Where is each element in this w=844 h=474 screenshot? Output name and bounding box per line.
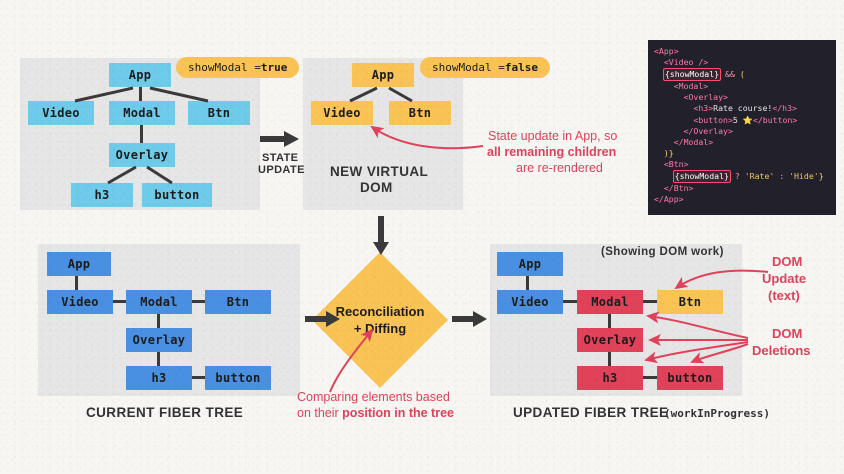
vdom-before-edge-modal-overlay [140,125,143,143]
current-fiber-tree-caption: CURRENT FIBER TREE [86,405,243,420]
dom-update-label-line2: Update [762,271,806,286]
state-update-label-line2: UPDATE [258,164,305,176]
new-virtual-dom-label-line2: DOM [360,180,393,195]
vdom-to-reconciliation-arrow-icon [372,216,390,261]
current-fiber-edge-modal-overlay [157,314,160,328]
state-update-label-line1: STATE [262,152,298,164]
current-to-reconciliation-arrow-icon [305,310,341,333]
state-update-note-line3: are re-rendered [516,161,603,176]
vdom-after-node-btn: Btn [389,101,451,125]
showmodal-false-badge: showModal = false [420,57,550,78]
updated-fiber-node-btn: Btn [657,290,723,314]
vdom-before-node-video: Video [28,101,94,125]
dom-update-label-line3: (text) [768,288,800,303]
updated-fiber-tree-caption-mono: (workInProgress) [664,407,770,420]
badge-value: true [261,61,288,74]
current-fiber-edge-video-modal [113,300,126,303]
current-fiber-node-app: App [47,252,111,276]
code-highlight-showmodal-2: {showModal} [673,170,731,183]
current-fiber-node-btn: Btn [205,290,271,314]
current-fiber-node-button: button [205,366,271,390]
vdom-before-node-app: App [109,63,171,87]
dom-deletions-label-line1: DOM [772,326,802,341]
state-update-arrow-icon [260,130,300,153]
current-fiber-edge-app-video [75,276,78,290]
reconciliation-note-line2-bold: position in the tree [342,406,454,420]
badge-value: false [505,61,538,74]
state-update-note-line2: all remaining children [487,145,616,160]
current-fiber-edge-modal-btn [192,300,205,303]
current-fiber-node-h3: h3 [126,366,192,390]
updated-fiber-node-app: App [497,252,563,276]
current-fiber-edge-overlay-h3 [157,352,160,366]
vdom-after-node-app: App [352,63,414,87]
updated-fiber-edge-h3-button [643,376,657,379]
current-fiber-node-modal: Modal [126,290,192,314]
updated-fiber-node-h3: h3 [577,366,643,390]
vdom-before-node-h3: h3 [71,183,133,207]
updated-fiber-edge-modal-btn [643,300,657,303]
updated-fiber-inset-label: (Showing DOM work) [601,246,724,258]
reconciliation-note-line2: on their position in the tree [297,406,454,421]
reconciliation-note-line2-plain: on their [297,406,342,420]
badge-prefix: showModal = [432,61,505,74]
showmodal-true-badge: showModal = true [176,57,299,78]
vdom-before-node-btn: Btn [188,101,250,125]
current-fiber-edge-h3-button [192,376,205,379]
updated-fiber-node-video: Video [497,290,563,314]
vdom-after-node-video: Video [311,101,373,125]
new-virtual-dom-label-line1: NEW VIRTUAL [330,164,428,179]
vdom-before-node-modal: Modal [109,101,175,125]
vdom-before-node-overlay: Overlay [109,143,175,167]
state-update-note-line1: State update in App, so [488,129,617,144]
current-fiber-node-overlay: Overlay [126,328,192,352]
updated-fiber-edge-app-video [526,276,529,290]
vdom-before-edge-app-modal [139,87,142,101]
code-snippet-block: <App> <Video /> {showModal} && ( <Modal>… [648,40,836,215]
vdom-before-node-button: button [142,183,212,207]
updated-fiber-node-button: button [657,366,723,390]
updated-fiber-edge-overlay-h3 [608,352,611,366]
reconciliation-to-updated-arrow-icon [452,310,488,333]
code-highlight-showmodal-1: {showModal} [663,68,721,81]
updated-fiber-edge-video-modal [563,300,577,303]
updated-fiber-node-modal: Modal [577,290,643,314]
updated-fiber-edge-modal-overlay [608,314,611,328]
dom-deletions-label-line2: Deletions [752,343,811,358]
current-fiber-node-video: Video [47,290,113,314]
reconciliation-note-line1: Comparing elements based [297,390,450,405]
updated-fiber-node-overlay: Overlay [577,328,643,352]
dom-update-label-line1: DOM [772,254,802,269]
updated-fiber-tree-caption: UPDATED FIBER TREE [513,405,668,420]
badge-prefix: showModal = [188,61,261,74]
